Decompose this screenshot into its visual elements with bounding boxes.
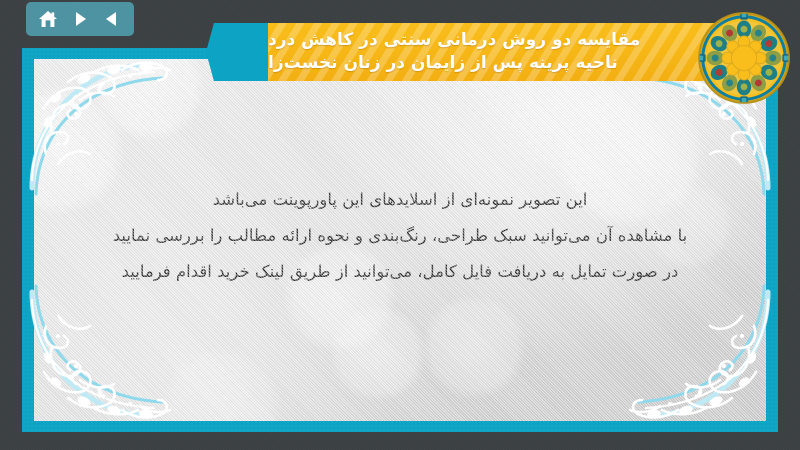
- home-button[interactable]: [37, 8, 59, 30]
- body-text-block: این تصویر نمونه‌ای از اسلایدهای این پاور…: [74, 187, 726, 284]
- bokeh-circle: [330, 305, 426, 401]
- slide-title-line-1: مقایسه دو روش درمانی سنتی در کاهش درد: [268, 29, 640, 52]
- banner-arrow-tab: [206, 23, 272, 81]
- content-panel: این تصویر نمونه‌ای از اسلایدهای این پاور…: [22, 48, 778, 432]
- bokeh-circle: [422, 295, 526, 399]
- body-line-1: این تصویر نمونه‌ای از اسلایدهای این پاور…: [74, 187, 726, 212]
- slide-content-area: این تصویر نمونه‌ای از اسلایدهای این پاور…: [34, 59, 766, 421]
- home-icon: [38, 10, 58, 29]
- slide-canvas: این تصویر نمونه‌ای از اسلایدهای این پاور…: [0, 0, 800, 450]
- body-line-2: با مشاهده آن می‌توانید سبک طراحی، رنگ‌بن…: [74, 223, 726, 248]
- title-banner: مقایسه دو روش درمانی سنتی در کاهش درد نا…: [206, 23, 746, 81]
- body-line-3: در صورت تمایل به دریافت فایل کامل، می‌تو…: [74, 259, 726, 284]
- slide-navigation-bar: [26, 2, 134, 36]
- next-slide-button[interactable]: [69, 8, 91, 30]
- left-triangle-icon: [103, 10, 121, 28]
- previous-slide-button[interactable]: [101, 8, 123, 30]
- slide-title-line-2: ناحیه پرینه پس از زایمان در زنان نخست‌زا: [268, 52, 618, 75]
- banner-title-area: مقایسه دو روش درمانی سنتی در کاهش درد نا…: [268, 23, 746, 81]
- bokeh-circle: [162, 347, 282, 421]
- right-triangle-icon: [71, 10, 89, 28]
- persian-mandala-medallion-icon: [696, 10, 792, 106]
